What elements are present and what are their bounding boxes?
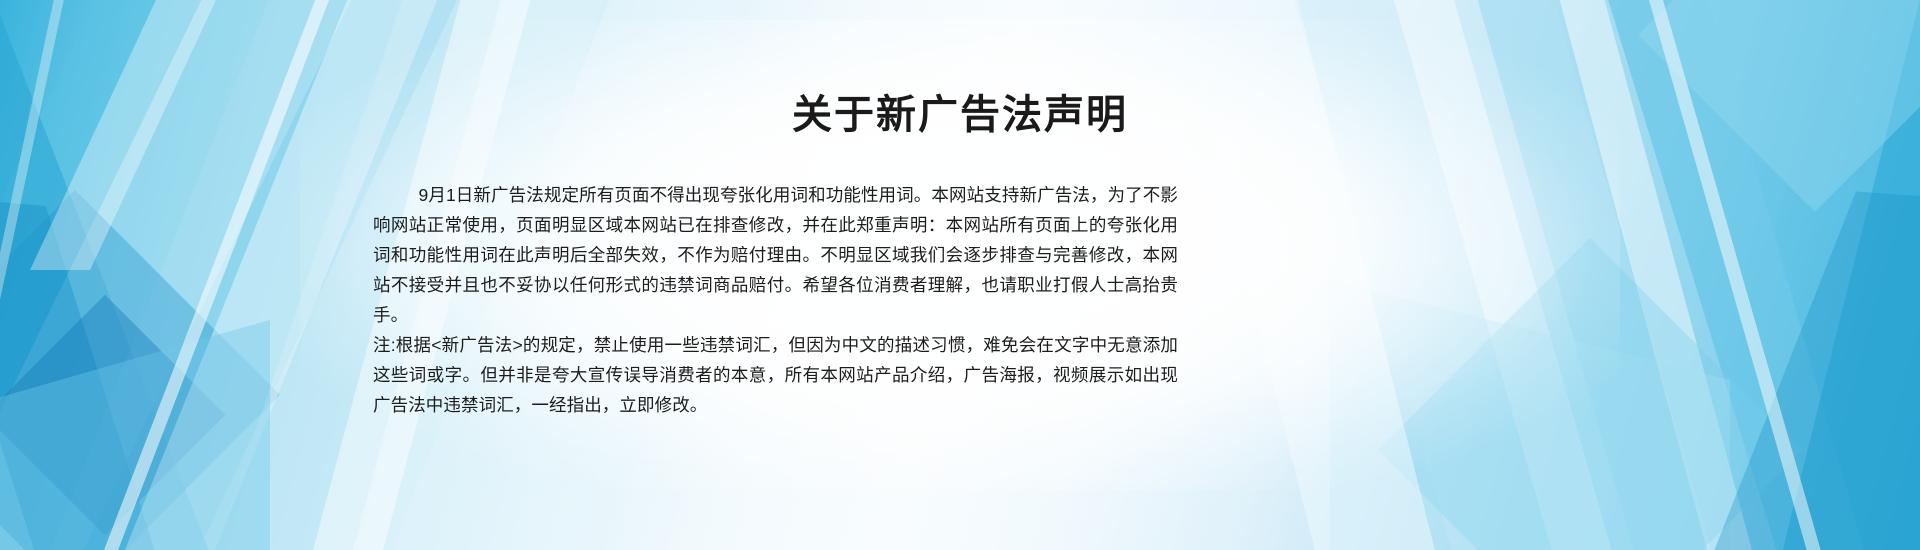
advertising-law-statement-banner: 关于新广告法声明 9月1日新广告法规定所有页面不得出现夸张化用词和功能性用词。本… (0, 0, 1920, 550)
banner-content: 关于新广告法声明 9月1日新广告法规定所有页面不得出现夸张化用词和功能性用词。本… (0, 0, 1920, 550)
page-title: 关于新广告法声明 (0, 92, 1920, 138)
statement-paragraph-2: 注:根据<新广告法>的规定，禁止使用一些违禁词汇，但因为中文的描述习惯，难免会在… (373, 330, 1178, 420)
statement-body: 9月1日新广告法规定所有页面不得出现夸张化用词和功能性用词。本网站支持新广告法，… (373, 180, 1178, 420)
statement-paragraph-1: 9月1日新广告法规定所有页面不得出现夸张化用词和功能性用词。本网站支持新广告法，… (373, 180, 1178, 330)
